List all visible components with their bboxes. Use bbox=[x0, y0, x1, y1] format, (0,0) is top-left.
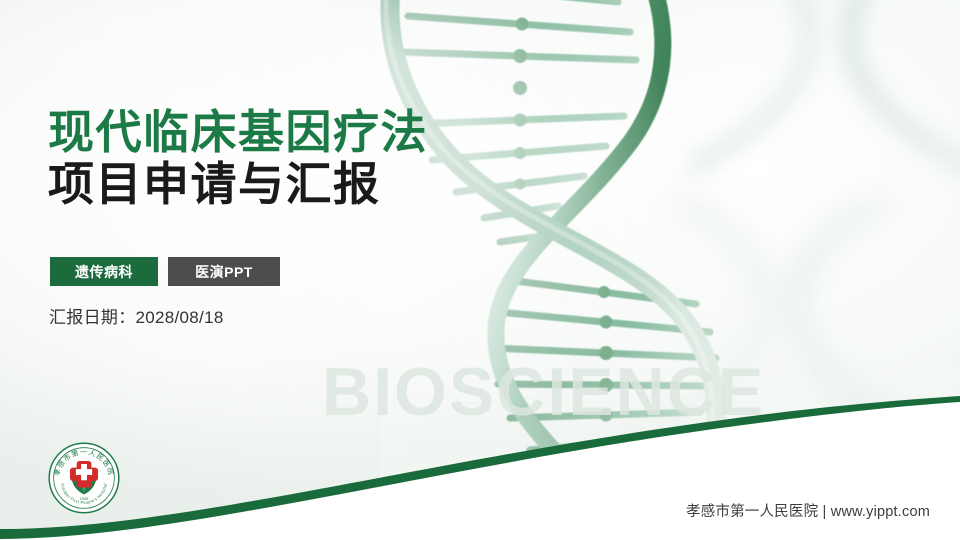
title-line-secondary: 项目申请与汇报 bbox=[48, 158, 428, 210]
badge-group: 遗传病科 医演PPT bbox=[50, 257, 280, 286]
hospital-logo-icon: 孝感市第一人民医院 Xiaogan First People's Hospita… bbox=[47, 441, 121, 515]
svg-text:1949: 1949 bbox=[80, 497, 89, 501]
footer-credit: 孝感市第一人民医院 | www.yippt.com bbox=[686, 500, 930, 521]
report-date: 汇报日期：2028/08/18 bbox=[49, 303, 224, 328]
department-badge[interactable]: 遗传病科 bbox=[50, 257, 158, 286]
brand-badge[interactable]: 医演PPT bbox=[168, 257, 280, 286]
title-line-primary: 现代临床基因疗法 bbox=[48, 106, 428, 158]
title-slide: BIOSCIENCE 现代临床基因疗法 项目申请与汇报 遗传病科 医演PPT 汇… bbox=[0, 0, 960, 540]
page-title: 现代临床基因疗法 项目申请与汇报 bbox=[48, 106, 428, 211]
